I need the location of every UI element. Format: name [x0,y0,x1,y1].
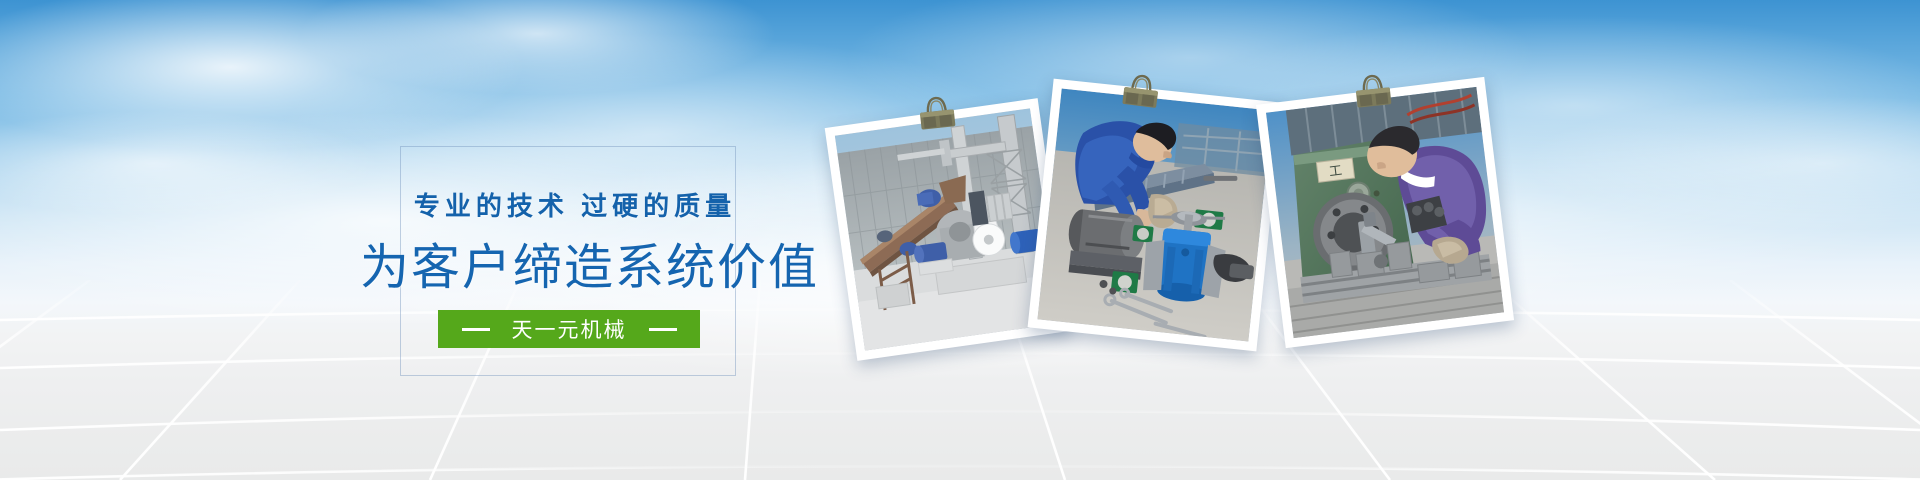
photo-collage: 工 [840,60,1620,420]
brand-badge-button[interactable]: 天一元机械 [438,310,700,348]
binder-clip-icon [1348,72,1397,111]
hero-banner: 专业的技术 过硬的质量 为客户缔造系统价值 天一元机械 [0,0,1920,480]
photo-worker-at-lathe[interactable]: 工 [1256,77,1514,348]
binder-clip-icon [1116,71,1166,110]
svg-text:工: 工 [1328,162,1343,178]
dash-left-icon [462,328,490,331]
brand-badge-label: 天一元机械 [512,314,627,344]
photo-worker-assembling-gearbox-image [1037,89,1272,342]
photo-worker-assembling-gearbox[interactable] [1028,79,1283,352]
tagline: 专业的技术 过硬的质量 [410,186,740,223]
photo-industrial-line-image [835,108,1060,350]
binder-clip-icon [912,94,961,133]
page-title: 为客户缔造系统价值 [360,228,790,299]
photo-worker-at-lathe-image: 工 [1266,87,1504,338]
dash-right-icon [649,328,677,331]
